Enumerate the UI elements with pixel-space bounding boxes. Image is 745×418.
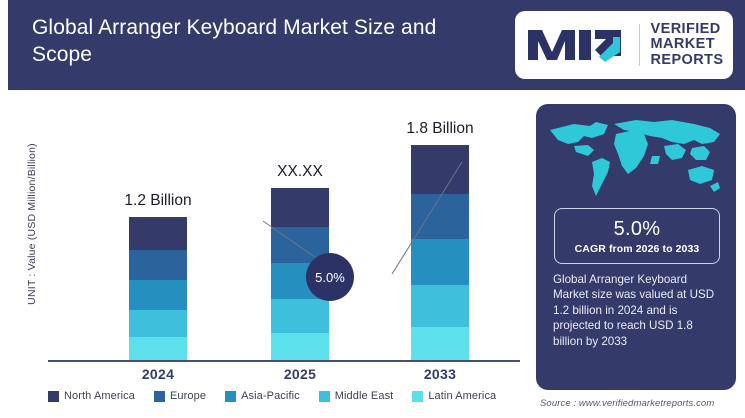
legend-swatch-icon [48, 391, 59, 402]
legend-item[interactable]: North America [48, 390, 135, 402]
bar-segment[interactable] [271, 188, 329, 227]
cagr-annotation-badge: 5.0% [306, 253, 354, 301]
bar-segment[interactable] [129, 310, 187, 337]
bar-segment[interactable] [129, 280, 187, 310]
source-attribution: Source : www.verifiedmarketreports.com [540, 398, 714, 409]
bar-group: 1.8 Billion [411, 145, 469, 360]
bar-segment[interactable] [411, 327, 469, 360]
chart-panel: UNIT : Value (USD Million/Billion) 1.2 B… [8, 90, 528, 418]
bar-value-label: 1.2 Billion [124, 192, 191, 210]
bar-group: 1.2 Billion [129, 217, 187, 360]
legend-label: Latin America [428, 390, 496, 402]
y-axis-label: UNIT : Value (USD Million/Billion) [26, 124, 38, 324]
cagr-summary-card: 5.0% CAGR from 2026 to 2033 [554, 208, 720, 264]
bar-segment[interactable] [411, 285, 469, 327]
legend-label: North America [64, 390, 135, 402]
logo-line-3: REPORTS [651, 53, 724, 69]
legend-swatch-icon [319, 391, 330, 402]
logo-line-2: MARKET [651, 37, 724, 53]
stacked-bar[interactable] [411, 145, 469, 360]
bar-segment[interactable] [411, 239, 469, 284]
bar-segment[interactable] [129, 217, 187, 250]
legend-item[interactable]: Europe [154, 390, 206, 402]
bar-segment[interactable] [411, 145, 469, 194]
bar-value-label: 1.8 Billion [406, 120, 473, 138]
logo-divider [639, 24, 640, 66]
bar-value-label: XX.XX [277, 163, 323, 181]
chart-legend: North AmericaEuropeAsia-PacificMiddle Ea… [48, 390, 496, 402]
legend-label: Middle East [335, 390, 394, 402]
bar-segment[interactable] [271, 333, 329, 360]
cagr-value: 5.0% [614, 218, 661, 241]
legend-item[interactable]: Middle East [319, 390, 394, 402]
world-map-icon [544, 112, 728, 202]
infographic-root: Global Arranger Keyboard Market Size and… [0, 0, 745, 418]
x-axis-tick: 2024 [113, 366, 203, 382]
page-title: Global Arranger Keyboard Market Size and… [32, 14, 472, 68]
legend-swatch-icon [225, 391, 236, 402]
bar-segment[interactable] [271, 299, 329, 332]
vmr-logo-icon [525, 24, 633, 66]
x-axis-tick: 2025 [255, 366, 345, 382]
legend-swatch-icon [412, 391, 423, 402]
plot-area: 1.2 BillionXX.XX1.8 Billion [48, 90, 520, 362]
logo-line-1: VERIFIED [651, 22, 724, 38]
market-description: Global Arranger Keyboard Market size was… [553, 272, 725, 349]
header-band: Global Arranger Keyboard Market Size and… [8, 0, 745, 90]
bar-segment[interactable] [129, 337, 187, 360]
stacked-bar[interactable] [129, 217, 187, 360]
info-card: 5.0% CAGR from 2026 to 2033 Global Arran… [536, 104, 736, 390]
x-axis-tick: 2033 [395, 366, 485, 382]
bar-segment[interactable] [129, 250, 187, 280]
legend-item[interactable]: Asia-Pacific [225, 390, 300, 402]
legend-swatch-icon [154, 391, 165, 402]
cagr-caption: CAGR from 2026 to 2033 [575, 243, 700, 255]
bar-segment[interactable] [411, 194, 469, 239]
world-map-graphic [544, 112, 728, 202]
legend-label: Asia-Pacific [241, 390, 300, 402]
x-axis-line [48, 360, 520, 362]
logo-wordmark: VERIFIED MARKET REPORTS [651, 22, 724, 69]
legend-item[interactable]: Latin America [412, 390, 496, 402]
legend-label: Europe [170, 390, 206, 402]
brand-logo: VERIFIED MARKET REPORTS [515, 11, 733, 79]
